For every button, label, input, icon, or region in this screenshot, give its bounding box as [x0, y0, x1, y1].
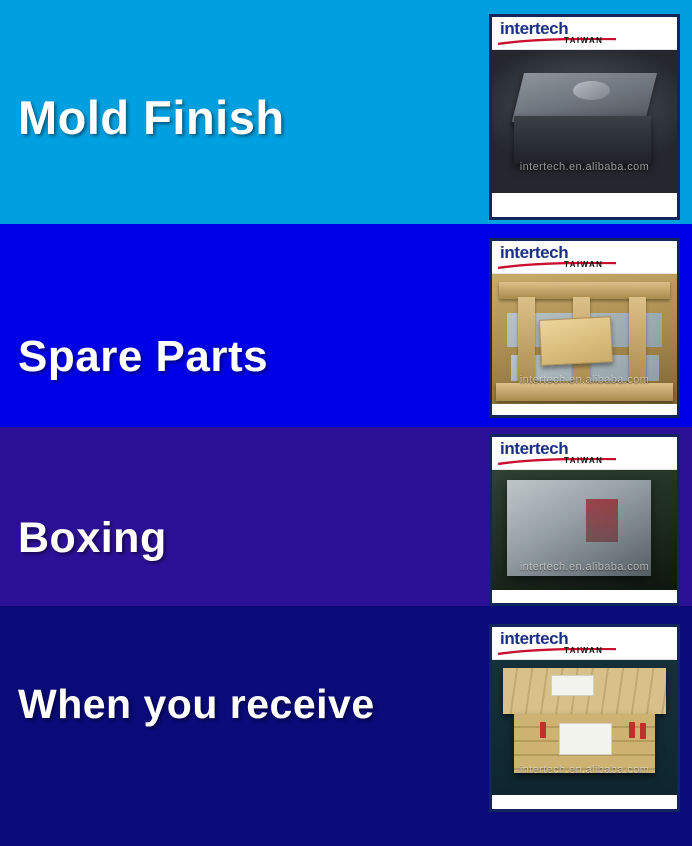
process-flow-infographic: Mold Finish Spare Parts Boxing When you …: [0, 0, 692, 846]
crate-slat: [496, 383, 674, 401]
band-title-mold-finish: Mold Finish: [18, 90, 285, 145]
crate-seal: [540, 722, 546, 738]
logo-wordmark: intertech: [500, 243, 568, 263]
scene-shipping-crate: [492, 660, 677, 795]
crate-slat: [499, 282, 669, 299]
logo-wordmark: intertech: [500, 19, 568, 39]
logo-subtext: TAIWAN: [564, 260, 603, 269]
band-title-when-you-receive: When you receive: [18, 681, 375, 728]
packing-board: [539, 316, 614, 366]
photo-card-mold-finish[interactable]: intertech TAIWAN intertech.en.alibaba.co…: [489, 14, 680, 220]
photo-image-crate: intertech.en.alibaba.com: [492, 660, 677, 795]
intertech-logo: intertech TAIWAN: [492, 627, 677, 660]
photo-card-spare-parts[interactable]: intertech TAIWAN intertech.en.alibaba.co…: [489, 238, 680, 418]
photo-image-mold: intertech.en.alibaba.com: [492, 50, 677, 193]
scene-spare-parts: [492, 274, 677, 404]
crate-seal: [640, 723, 646, 739]
logo-wordmark: intertech: [500, 629, 568, 649]
shipping-label: [551, 675, 594, 696]
intertech-logo: intertech TAIWAN: [492, 17, 677, 50]
scene-wrapped-mold: [492, 470, 677, 590]
crate-slat: [629, 297, 646, 388]
logo-subtext: TAIWAN: [564, 36, 603, 45]
intertech-logo: intertech TAIWAN: [492, 241, 677, 274]
photo-image-spare-parts: intertech.en.alibaba.com: [492, 274, 677, 404]
intertech-logo: intertech TAIWAN: [492, 437, 677, 470]
crate-seal: [629, 722, 635, 738]
mold-body: [514, 116, 651, 165]
photo-image-boxing: intertech.en.alibaba.com: [492, 470, 677, 590]
shipping-label: [559, 723, 613, 755]
photo-card-when-you-receive[interactable]: intertech TAIWAN intertech.en.alibaba.co…: [489, 624, 680, 812]
logo-subtext: TAIWAN: [564, 456, 603, 465]
scene-mold: [492, 50, 677, 193]
photo-card-boxing[interactable]: intertech TAIWAN intertech.en.alibaba.co…: [489, 434, 680, 606]
logo-subtext: TAIWAN: [564, 646, 603, 655]
band-title-boxing: Boxing: [18, 514, 167, 563]
crate-slat: [518, 297, 535, 388]
logo-wordmark: intertech: [500, 439, 568, 459]
shrink-wrap: [507, 480, 651, 576]
band-title-spare-parts: Spare Parts: [18, 332, 268, 382]
